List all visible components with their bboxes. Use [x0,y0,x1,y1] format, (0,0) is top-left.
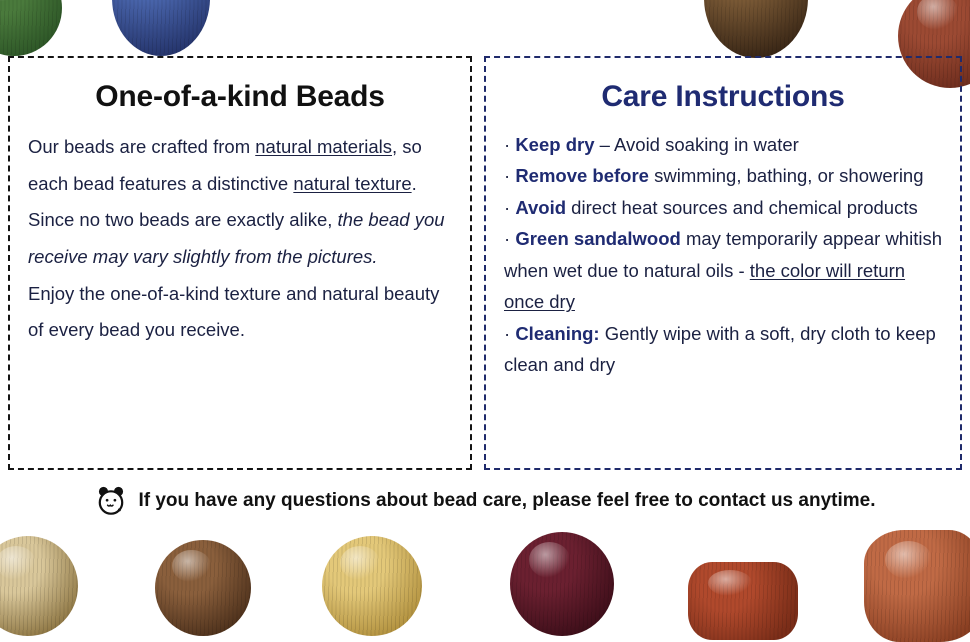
red-jasper-barrel-bead [688,562,798,640]
bead-highlight [340,546,380,580]
bullet-marker: · [504,165,510,186]
chrysanthemum-stone-bead [864,530,970,642]
yellow-boxwood-bead [322,536,422,636]
page-title-right: Care Instructions [486,80,960,113]
paragraph-materials: Our beads are crafted from natural mater… [28,129,452,202]
text-segment-underlined: natural texture [293,173,411,194]
dark-red-agate-bead [510,532,614,636]
paragraph-variation: Since no two beads are exactly alike, th… [28,202,452,275]
blue-lapis-bead [112,0,210,56]
text-segment: Enjoy the one-of-a-kind texture and natu… [28,283,439,341]
panda-face-icon [94,485,128,517]
bead-grain-texture [0,0,62,56]
bead-grain-texture [155,540,251,636]
text-segment-underlined: natural materials [255,136,392,157]
bullet-lead: Remove before [515,165,649,186]
decorative-bead-row-bottom [0,528,970,600]
care-instructions-list: · Keep dry – Avoid soaking in water · Re… [504,129,942,381]
bead-grain-texture [0,536,78,636]
text-segment: Since no two beads are exactly alike, [28,209,338,230]
bullet-marker: · [504,197,510,218]
bullet-rest: direct heat sources and chemical product… [566,197,918,218]
bullet-lead: Cleaning: [515,323,599,344]
bead-highlight [172,550,210,583]
bead-grain-texture [510,532,614,636]
bead-highlight [708,570,752,597]
dark-wood-striped-bead [704,0,808,58]
one-of-a-kind-beads-panel: One-of-a-kind Beads Our beads are crafte… [8,56,472,470]
bead-grain-texture [704,0,808,58]
bead-highlight [0,0,22,2]
right-panel-body: · Keep dry – Avoid soaking in water · Re… [486,129,960,381]
list-item: · Avoid direct heat sources and chemical… [504,192,942,223]
bullet-marker: · [504,134,510,155]
bead-grain-texture [688,562,798,640]
bead-grain-texture [864,530,970,642]
contact-note-text: If you have any questions about bead car… [138,490,875,512]
list-item: · Cleaning: Gently wipe with a soft, dry… [504,318,942,381]
bead-highlight [917,0,959,30]
bullet-lead: Green sandalwood [515,228,681,249]
paragraph-enjoy: Enjoy the one-of-a-kind texture and natu… [28,276,452,349]
bead-highlight [529,542,571,577]
bullet-marker: · [504,323,510,344]
page-title-left: One-of-a-kind Beads [10,80,470,113]
text-segment: Our beads are crafted from [28,136,255,157]
bullet-lead: Keep dry [515,134,594,155]
bullet-rest: swimming, bathing, or showering [649,165,924,186]
list-item: · Remove before swimming, bathing, or sh… [504,160,942,191]
walnut-wood-bead [155,540,251,636]
bullet-marker: · [504,228,510,249]
list-item: · Green sandalwood may temporarily appea… [504,223,942,317]
bead-grain-texture [112,0,210,56]
light-zebrawood-bead [0,536,78,636]
list-item: · Keep dry – Avoid soaking in water [504,129,942,160]
bead-highlight [885,541,932,579]
bullet-rest: – Avoid soaking in water [594,134,798,155]
green-jade-bead [0,0,62,56]
bullet-lead: Avoid [515,197,566,218]
bead-highlight [0,546,36,580]
decorative-bead-row-top [0,0,970,62]
left-panel-body: Our beads are crafted from natural mater… [10,129,470,349]
bead-grain-texture [322,536,422,636]
care-instructions-panel: Care Instructions · Keep dry – Avoid soa… [484,56,962,470]
contact-note: If you have any questions about bead car… [0,481,970,521]
text-segment: . [412,173,417,194]
